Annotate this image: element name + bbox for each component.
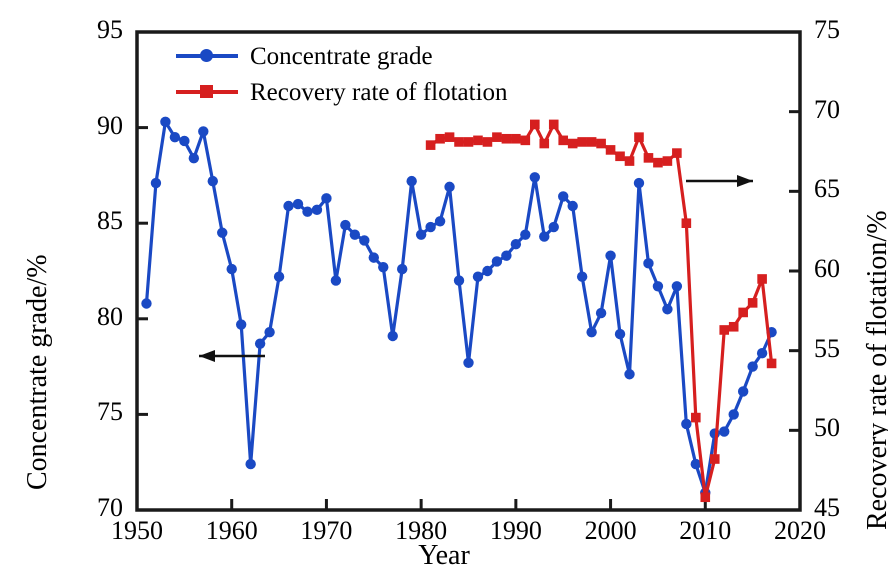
data-point-marker (558, 136, 568, 146)
data-point-marker (663, 156, 673, 166)
tick-label: 1950 (87, 516, 187, 546)
legend-item-concentrate-grade: Concentrate grade (176, 38, 508, 74)
data-point-marker (492, 132, 502, 142)
tick-label: 85 (53, 206, 123, 236)
data-point-marker (644, 153, 654, 163)
data-point-marker (435, 134, 445, 144)
data-point-marker (634, 178, 644, 188)
data-point-marker (539, 231, 549, 241)
data-point-marker (444, 182, 454, 192)
data-point-marker (189, 153, 199, 163)
data-point-marker (549, 120, 559, 130)
left-axis-arrow-icon-head (199, 350, 215, 362)
data-point-marker (719, 426, 729, 436)
data-point-marker (738, 386, 748, 396)
data-point-marker (198, 126, 208, 136)
data-point-marker (397, 264, 407, 274)
data-point-marker (596, 139, 606, 149)
chart-legend: Concentrate grade Recovery rate of flota… (176, 38, 508, 110)
data-point-marker (625, 156, 635, 166)
data-point-marker (501, 251, 511, 261)
data-point-marker (369, 252, 379, 262)
right-axis-arrow-icon-head (737, 175, 753, 187)
data-point-marker (747, 361, 757, 371)
data-point-marker (539, 139, 549, 149)
data-point-marker (426, 140, 436, 150)
data-point-marker (340, 220, 350, 230)
data-point-marker (606, 145, 616, 155)
data-point-marker (549, 222, 559, 232)
y-axis-left-title: Concentrate grade/% (22, 254, 54, 490)
tick-label: 2000 (561, 516, 661, 546)
legend-item-recovery-rate: Recovery rate of flotation (176, 74, 508, 110)
data-point-marker (283, 201, 293, 211)
data-point-marker (321, 193, 331, 203)
legend-label-concentrate-grade: Concentrate grade (250, 44, 433, 69)
data-point-marker (653, 158, 663, 168)
data-point-marker (245, 459, 255, 469)
data-point-marker (350, 229, 360, 239)
data-point-marker (151, 178, 161, 188)
data-point-marker (605, 251, 615, 261)
chart-figure: Concentrate grade/% Recovery rate of flo… (0, 0, 888, 578)
data-point-marker (596, 308, 606, 318)
data-point-marker (653, 281, 663, 291)
data-point-marker (473, 136, 483, 146)
tick-label: 70 (814, 95, 884, 125)
tick-label: 90 (53, 111, 123, 141)
data-point-marker (227, 264, 237, 274)
data-point-marker (681, 419, 691, 429)
data-point-marker (558, 191, 568, 201)
tick-label: 75 (814, 15, 884, 45)
data-point-marker (757, 274, 767, 284)
data-point-marker (160, 117, 170, 127)
data-point-marker (577, 272, 587, 282)
data-point-marker (454, 137, 464, 147)
data-point-marker (729, 409, 739, 419)
data-point-marker (463, 358, 473, 368)
tick-label: 55 (814, 334, 884, 364)
data-point-marker (511, 239, 521, 249)
tick-label: 1980 (371, 516, 471, 546)
data-point-marker (643, 258, 653, 268)
data-point-marker (662, 304, 672, 314)
tick-label: 2020 (750, 516, 850, 546)
tick-label: 95 (53, 15, 123, 45)
data-point-marker (530, 120, 540, 130)
data-point-marker (359, 235, 369, 245)
data-point-marker (302, 207, 312, 217)
data-point-marker (274, 272, 284, 282)
data-point-marker (748, 298, 758, 308)
data-point-marker (454, 275, 464, 285)
data-point-marker (217, 228, 227, 238)
data-point-marker (767, 359, 777, 369)
data-point-marker (530, 172, 540, 182)
data-point-marker (520, 229, 530, 239)
tick-label: 2010 (655, 516, 755, 546)
data-point-marker (483, 137, 493, 147)
data-point-marker (331, 275, 341, 285)
data-point-marker (208, 176, 218, 186)
data-point-marker (179, 136, 189, 146)
data-point-marker (691, 413, 701, 423)
data-point-marker (264, 327, 274, 337)
data-point-marker (388, 331, 398, 341)
data-point-marker (406, 176, 416, 186)
tick-label: 65 (814, 174, 884, 204)
data-point-marker (236, 319, 246, 329)
data-point-marker (435, 216, 445, 226)
tick-label: 80 (53, 302, 123, 332)
data-point-marker (502, 134, 512, 144)
data-point-marker (700, 492, 710, 502)
data-point-marker (710, 454, 720, 464)
data-point-marker (378, 262, 388, 272)
data-point-marker (511, 134, 521, 144)
data-point-marker (482, 266, 492, 276)
legend-swatch-circle-icon (176, 46, 238, 66)
data-point-marker (624, 369, 634, 379)
series-line-0 (146, 122, 771, 493)
data-point-marker (615, 151, 625, 161)
data-point-marker (682, 218, 692, 228)
data-point-marker (738, 308, 748, 318)
data-point-marker (416, 229, 426, 239)
data-point-marker (672, 281, 682, 291)
data-point-marker (255, 338, 265, 348)
tick-label: 75 (53, 397, 123, 427)
legend-swatch-square-icon (176, 82, 238, 102)
data-point-marker (445, 132, 455, 142)
data-point-marker (577, 137, 587, 147)
data-point-marker (312, 205, 322, 215)
tick-label: 1990 (466, 516, 566, 546)
tick-label: 1970 (276, 516, 376, 546)
data-point-marker (464, 137, 474, 147)
data-point-marker (293, 199, 303, 209)
tick-label: 1960 (182, 516, 282, 546)
data-point-marker (492, 256, 502, 266)
data-point-marker (634, 132, 644, 142)
data-point-marker (141, 298, 151, 308)
data-point-marker (587, 137, 597, 147)
tick-label: 50 (814, 413, 884, 443)
data-point-marker (729, 322, 739, 332)
data-point-marker (473, 272, 483, 282)
data-point-marker (615, 329, 625, 339)
data-point-marker (521, 136, 531, 146)
data-point-marker (672, 148, 682, 158)
data-point-marker (567, 201, 577, 211)
data-point-marker (757, 348, 767, 358)
data-point-marker (425, 222, 435, 232)
legend-label-recovery-rate: Recovery rate of flotation (250, 80, 508, 105)
data-point-marker (170, 132, 180, 142)
tick-label: 60 (814, 254, 884, 284)
data-point-marker (568, 139, 578, 149)
data-point-marker (586, 327, 596, 337)
data-point-marker (719, 325, 729, 335)
